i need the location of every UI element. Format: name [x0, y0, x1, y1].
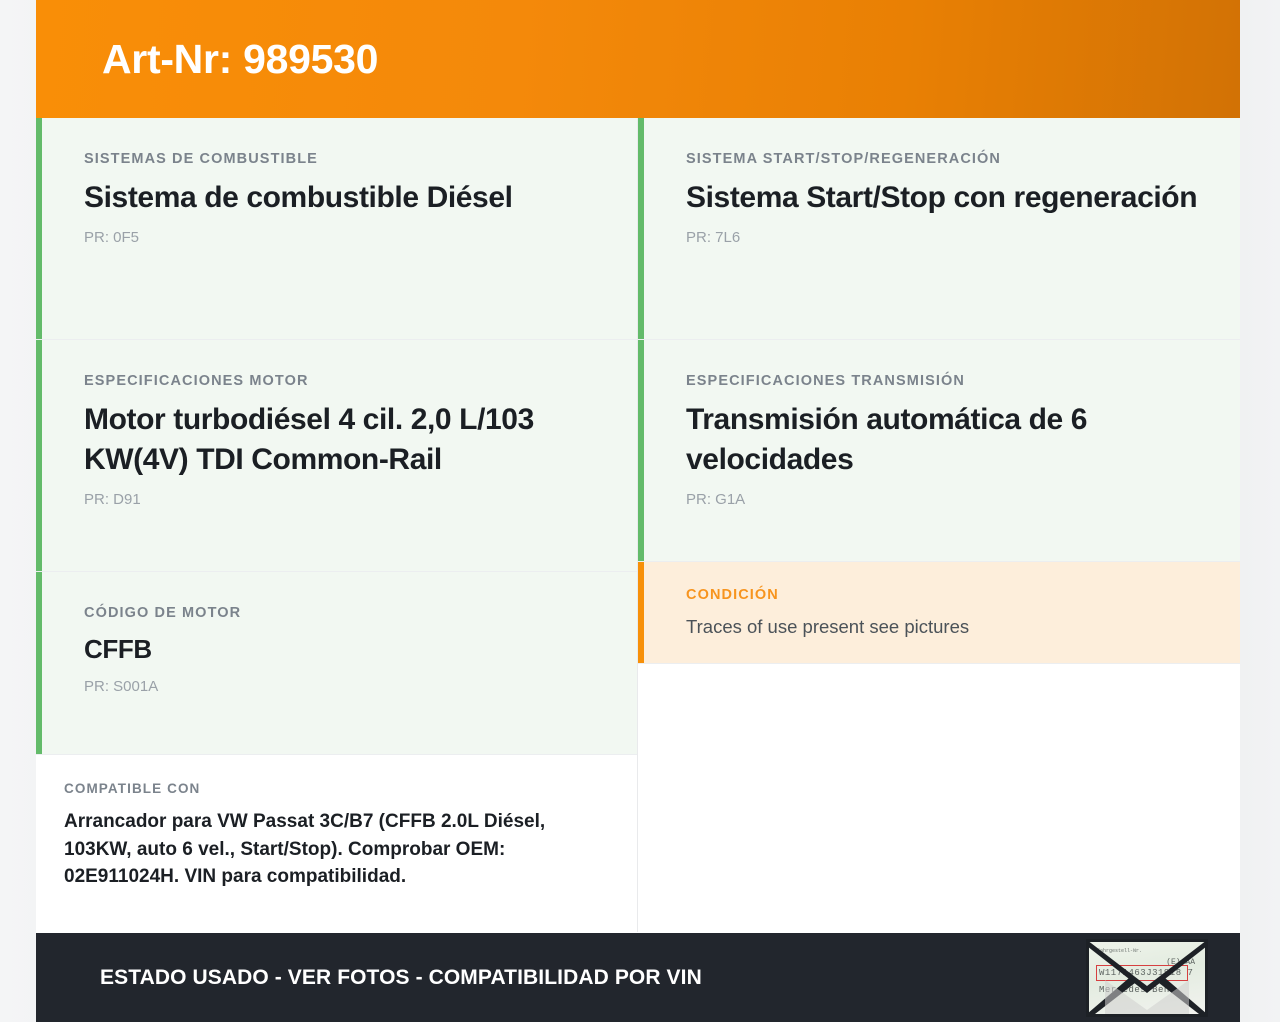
condition-text: Traces of use present see pictures [686, 614, 1198, 641]
spec-column-right: SISTEMA START/STOP/REGENERACIÓN Sistema … [638, 118, 1240, 932]
page-container: Art-Nr: 989530 SISTEMAS DE COMBUSTIBLE S… [36, 0, 1240, 1022]
card-compatible-with: COMPATIBLE CON Arrancador para VW Passat… [36, 755, 637, 917]
compatible-label: COMPATIBLE CON [64, 781, 595, 796]
card-pr-code: PR: 0F5 [84, 228, 595, 248]
article-number-header: Art-Nr: 989530 [36, 0, 1240, 118]
envelope-flap-icon [1087, 940, 1207, 1000]
card-title: CFFB [84, 632, 595, 667]
card-pr-code: PR: S001A [84, 677, 595, 697]
card-condition: CONDICIÓN Traces of use present see pict… [638, 562, 1240, 664]
card-title: Sistema Start/Stop con regeneración [686, 178, 1198, 218]
card-engine-code: CÓDIGO DE MOTOR CFFB PR: S001A [36, 572, 637, 755]
card-title: Sistema de combustible Diésel [84, 178, 595, 218]
envelope-icon: Fahrgestell-Nr. (E) AA W1171463J31918 7 … [1086, 939, 1208, 1017]
card-engine-spec: ESPECIFICACIONES MOTOR Motor turbodiésel… [36, 340, 637, 572]
card-label: SISTEMA START/STOP/REGENERACIÓN [686, 151, 1198, 168]
card-fuel-system: SISTEMAS DE COMBUSTIBLE Sistema de combu… [36, 118, 637, 340]
article-number-title: Art-Nr: 989530 [102, 39, 378, 80]
card-label: ESPECIFICACIONES TRANSMISIÓN [686, 373, 1198, 390]
card-label: SISTEMAS DE COMBUSTIBLE [84, 151, 595, 168]
compatible-text: Arrancador para VW Passat 3C/B7 (CFFB 2.… [64, 808, 595, 891]
spec-grid: SISTEMAS DE COMBUSTIBLE Sistema de combu… [36, 118, 1240, 932]
card-start-stop: SISTEMA START/STOP/REGENERACIÓN Sistema … [638, 118, 1240, 340]
spec-column-left: SISTEMAS DE COMBUSTIBLE Sistema de combu… [36, 118, 638, 932]
footer-banner: ESTADO USADO - VER FOTOS - COMPATIBILIDA… [36, 933, 1240, 1022]
card-pr-code: PR: D91 [84, 490, 595, 510]
card-label: CÓDIGO DE MOTOR [84, 605, 595, 622]
card-label: ESPECIFICACIONES MOTOR [84, 373, 595, 390]
card-pr-code: PR: 7L6 [686, 228, 1198, 248]
footer-text: ESTADO USADO - VER FOTOS - COMPATIBILIDA… [100, 966, 702, 990]
condition-label: CONDICIÓN [686, 587, 1198, 604]
card-pr-code: PR: G1A [686, 490, 1198, 510]
card-title: Motor turbodiésel 4 cil. 2,0 L/103 KW(4V… [84, 400, 595, 480]
empty-cell [638, 664, 1240, 932]
card-title: Transmisión automática de 6 velocidades [686, 400, 1198, 480]
card-transmission-spec: ESPECIFICACIONES TRANSMISIÓN Transmisión… [638, 340, 1240, 562]
